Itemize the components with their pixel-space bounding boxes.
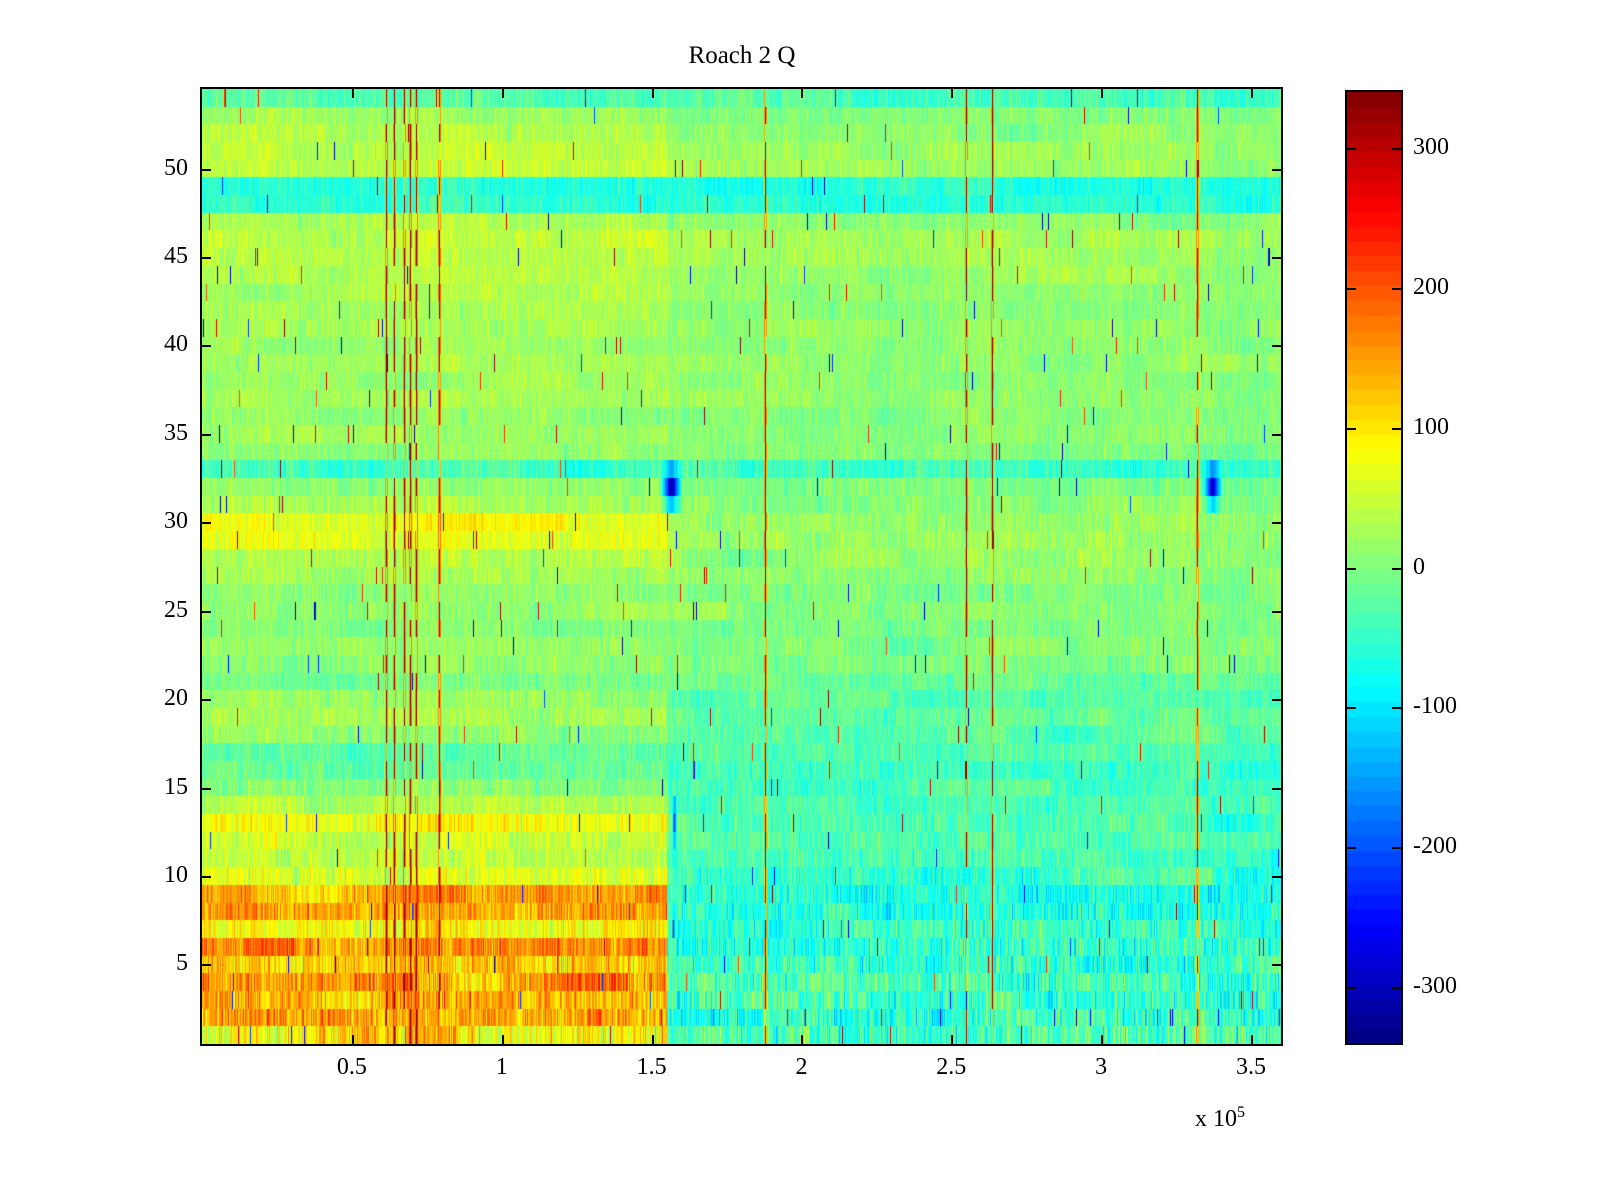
x-tick-label-0: 0.5: [292, 1054, 412, 1080]
y-tick-mark-8: [202, 257, 211, 259]
x-tick-mark-top-6: [1251, 89, 1253, 98]
x-tick-label-6: 3.5: [1191, 1054, 1311, 1080]
y-tick-mark-9: [202, 169, 211, 171]
x-tick-mark-top-5: [1101, 89, 1103, 98]
colorbar-tick-mark-left-5: [1347, 288, 1356, 290]
y-tick-mark-1: [202, 876, 211, 878]
y-tick-mark-2: [202, 788, 211, 790]
y-tick-label-8: 45: [88, 243, 188, 269]
colorbar-tick-mark-right-2: [1392, 707, 1401, 709]
colorbar-tick-label-0: -300: [1413, 973, 1457, 999]
y-tick-label-1: 10: [88, 862, 188, 888]
colorbar-tick-label-2: -100: [1413, 693, 1457, 719]
x-tick-mark-2: [652, 1035, 654, 1044]
y-tick-mark-right-9: [1272, 169, 1281, 171]
x-tick-label-4: 2.5: [891, 1054, 1011, 1080]
colorbar-tick-mark-left-3: [1347, 568, 1356, 570]
heatmap-axes[interactable]: [200, 87, 1283, 1046]
colorbar-tick-mark-right-1: [1392, 847, 1401, 849]
y-tick-mark-3: [202, 699, 211, 701]
y-tick-mark-right-2: [1272, 788, 1281, 790]
x-axis-exponent-label: x 105: [1195, 1104, 1245, 1133]
x-axis-exponent-power: 5: [1237, 1104, 1245, 1121]
x-tick-mark-top-4: [951, 89, 953, 98]
y-tick-mark-7: [202, 345, 211, 347]
y-tick-label-7: 40: [88, 331, 188, 357]
y-tick-mark-right-0: [1272, 964, 1281, 966]
x-tick-label-2: 1.5: [592, 1054, 712, 1080]
y-tick-mark-right-6: [1272, 434, 1281, 436]
y-tick-mark-right-3: [1272, 699, 1281, 701]
colorbar-tick-mark-left-1: [1347, 847, 1356, 849]
x-tick-mark-5: [1101, 1035, 1103, 1044]
colorbar-tick-mark-right-6: [1392, 148, 1401, 150]
x-tick-mark-0: [352, 1035, 354, 1044]
y-tick-label-3: 20: [88, 685, 188, 711]
colorbar-tick-label-6: 300: [1413, 134, 1449, 160]
x-tick-label-1: 1: [442, 1054, 562, 1080]
heatmap-image[interactable]: [202, 89, 1281, 1044]
colorbar-tick-label-4: 100: [1413, 414, 1449, 440]
colorbar-tick-label-3: 0: [1413, 554, 1425, 580]
y-tick-label-9: 50: [88, 155, 188, 181]
y-tick-mark-right-1: [1272, 876, 1281, 878]
page-title: Roach 2 Q: [200, 41, 1284, 71]
y-tick-mark-6: [202, 434, 211, 436]
colorbar-tick-mark-left-0: [1347, 987, 1356, 989]
colorbar-tick-mark-left-6: [1347, 148, 1356, 150]
y-tick-label-2: 15: [88, 774, 188, 800]
colorbar-tick-mark-right-5: [1392, 288, 1401, 290]
y-tick-label-0: 5: [88, 950, 188, 976]
x-tick-mark-top-0: [352, 89, 354, 98]
y-tick-mark-right-8: [1272, 257, 1281, 259]
x-tick-mark-3: [801, 1035, 803, 1044]
colorbar-tick-label-5: 200: [1413, 274, 1449, 300]
x-tick-label-5: 3: [1041, 1054, 1161, 1080]
y-tick-label-6: 35: [88, 420, 188, 446]
x-tick-mark-top-1: [502, 89, 504, 98]
y-tick-mark-right-4: [1272, 611, 1281, 613]
x-tick-mark-1: [502, 1035, 504, 1044]
colorbar-tick-label-1: -200: [1413, 833, 1457, 859]
x-tick-label-3: 2: [741, 1054, 861, 1080]
y-tick-mark-5: [202, 522, 211, 524]
y-tick-label-4: 25: [88, 597, 188, 623]
y-tick-label-5: 30: [88, 508, 188, 534]
x-tick-mark-6: [1251, 1035, 1253, 1044]
x-tick-mark-top-3: [801, 89, 803, 98]
colorbar-tick-mark-right-0: [1392, 987, 1401, 989]
y-tick-mark-right-5: [1272, 522, 1281, 524]
x-axis-exponent-mantissa: x 10: [1195, 1106, 1237, 1132]
colorbar-tick-mark-left-4: [1347, 428, 1356, 430]
colorbar-tick-mark-right-4: [1392, 428, 1401, 430]
x-tick-mark-4: [951, 1035, 953, 1044]
colorbar-tick-mark-left-2: [1347, 707, 1356, 709]
y-tick-mark-4: [202, 611, 211, 613]
colorbar-tick-mark-right-3: [1392, 568, 1401, 570]
x-tick-mark-top-2: [652, 89, 654, 98]
y-tick-mark-right-7: [1272, 345, 1281, 347]
y-tick-mark-0: [202, 964, 211, 966]
figure-canvas: Roach 2 Q 0.511.522.533.5 51015202530354…: [0, 0, 1600, 1200]
